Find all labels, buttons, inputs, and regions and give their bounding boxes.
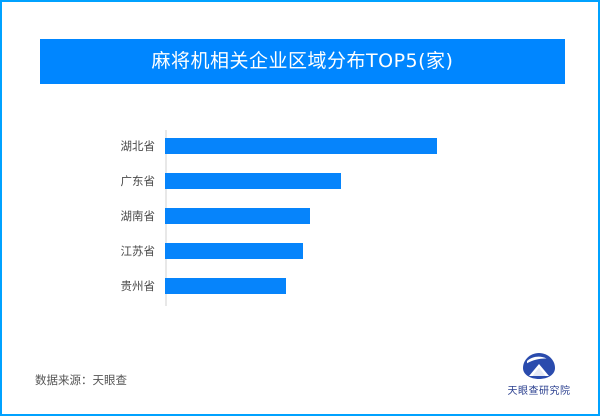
category-label-3: 江苏省 <box>55 243 155 259</box>
brand-logo: 天眼查研究院 <box>499 352 579 400</box>
category-label-1: 广东省 <box>55 173 155 189</box>
bar-3 <box>165 243 303 259</box>
category-label-4: 贵州省 <box>55 278 155 294</box>
bar-1 <box>165 173 341 189</box>
data-source-note: 数据来源：天眼查 <box>35 372 127 388</box>
tianyancha-eye-icon <box>522 352 556 380</box>
bar-row-4 <box>165 278 286 294</box>
bar-2 <box>165 208 310 224</box>
category-label-0: 湖北省 <box>55 138 155 154</box>
category-label-2: 湖南省 <box>55 208 155 224</box>
chart-page: 麻将机相关企业区域分布TOP5(家) 湖北省 广东省 湖南省 江苏省 贵州省 数… <box>0 0 600 416</box>
brand-logo-text: 天眼查研究院 <box>508 382 571 397</box>
bar-4 <box>165 278 286 294</box>
bar-row-2 <box>165 208 310 224</box>
bar-row-3 <box>165 243 303 259</box>
bar-0 <box>165 138 437 154</box>
bar-row-0 <box>165 138 437 154</box>
bar-row-1 <box>165 173 341 189</box>
